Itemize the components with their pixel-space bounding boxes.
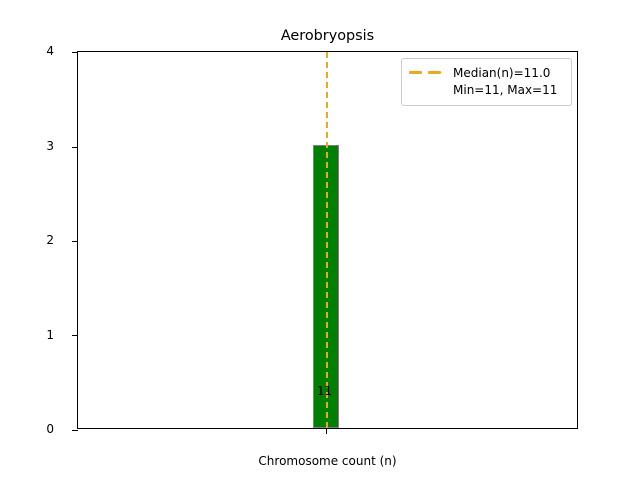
legend-label-minmax: Min=11, Max=11 <box>453 82 557 99</box>
y-tick-label-4: 4 <box>14 45 54 57</box>
legend-entry-median: Median(n)=11.0 Min=11, Max=11 <box>453 65 557 99</box>
y-tick-label-2: 2 <box>14 234 54 246</box>
y-tick-label-3: 3 <box>14 140 54 152</box>
chart-title: Aerobryopsis <box>77 27 578 45</box>
chart-figure: Aerobryopsis Median(n)=11.0 Min=11, Max=… <box>0 0 640 480</box>
y-tick-label-1: 1 <box>14 329 54 341</box>
y-tick-mark-2 <box>72 241 78 242</box>
x-axis-label: Chromosome count (n) <box>77 454 578 468</box>
legend: Median(n)=11.0 Min=11, Max=11 <box>401 58 572 106</box>
median-line <box>326 52 328 428</box>
y-tick-mark-1 <box>72 335 78 336</box>
y-axis-label: Normalized num of counts (Total 3) <box>0 6 1 386</box>
plot-area: Median(n)=11.0 Min=11, Max=11 <box>77 51 578 429</box>
y-tick-label-0: 0 <box>14 423 54 435</box>
y-tick-mark-4 <box>72 52 78 53</box>
legend-dashed-line-icon <box>409 65 445 80</box>
y-tick-mark-3 <box>72 147 78 148</box>
y-tick-mark-0 <box>72 430 78 431</box>
legend-label-median: Median(n)=11.0 <box>453 65 557 82</box>
x-tick-label-11: 11 <box>295 385 355 397</box>
x-tick-mark-11 <box>326 428 327 434</box>
